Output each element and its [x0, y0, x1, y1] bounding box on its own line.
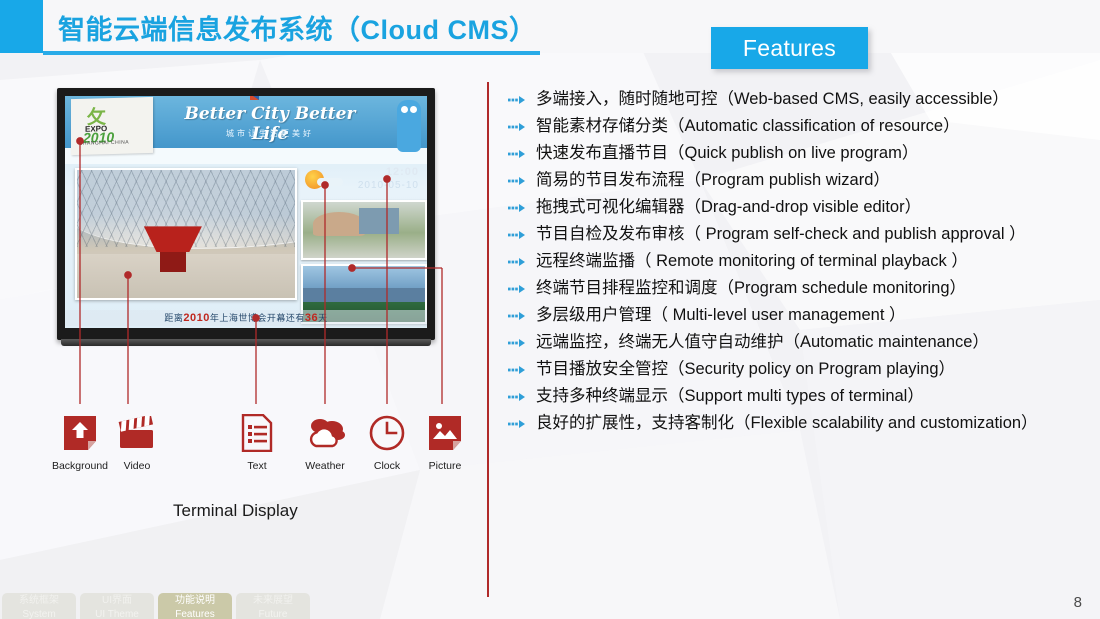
widget-clock[interactable]: Clock [357, 408, 417, 472]
kite-icon [250, 96, 259, 100]
list-item-text: 良好的扩展性，支持客制化（Flexible scalability and cu… [536, 410, 1038, 437]
background-icon [50, 408, 110, 458]
tab-ui-theme-design[interactable]: UI界面 UI Theme Design [80, 593, 154, 619]
weather-cloud-icon [317, 178, 343, 186]
list-item-text: 支持多种终端显示（Support multi types of terminal… [536, 383, 924, 410]
tab-label-cn: 功能说明 [158, 593, 232, 608]
tab-features[interactable]: 功能说明 Features [158, 593, 232, 619]
terminal-display-caption: Terminal Display [173, 501, 298, 521]
widget-text[interactable]: Text [227, 408, 287, 472]
photo-pavilion-base [160, 252, 186, 272]
widget-weather-label: Weather [295, 460, 355, 472]
bullet-arrow-icon [508, 248, 536, 271]
bullet-arrow-icon [508, 329, 536, 352]
page-title: 智能云端信息发布系统（Cloud CMS） [58, 8, 536, 47]
list-item-text: 节目自检及发布审核（ Program self-check and publis… [536, 221, 1026, 248]
tab-future-roadmap[interactable]: 未来展望 Future Roadmap [236, 593, 310, 619]
bullet-arrow-icon [508, 302, 536, 325]
video-icon [107, 408, 167, 458]
clock-icon [357, 408, 417, 458]
list-item: 拖拽式可视化编辑器（Drag-and-drop visible editor） [508, 194, 1096, 221]
list-item: 远端监控，终端无人值守自动维护（Automatic maintenance） [508, 329, 1096, 356]
list-item-text: 简易的节目发布流程（Program publish wizard） [536, 167, 890, 194]
bullet-arrow-icon [508, 221, 536, 244]
list-item: 终端节目排程监控和调度（Program schedule monitoring） [508, 275, 1096, 302]
list-item: 快速发布直播节目（Quick publish on live program） [508, 140, 1096, 167]
list-item-text: 终端节目排程监控和调度（Program schedule monitoring） [536, 275, 966, 302]
widget-background[interactable]: Background [50, 408, 110, 472]
widget-background-label: Background [50, 460, 110, 472]
list-item: 智能素材存储分类（Automatic classification of res… [508, 113, 1096, 140]
screen-main-photo [75, 168, 297, 300]
bullet-arrow-icon [508, 356, 536, 379]
expo-logo-card: ⺙ EXPO 2010 SHANGHAI CHINA [71, 97, 153, 155]
widget-clock-label: Clock [357, 460, 417, 472]
bullet-arrow-icon [508, 167, 536, 190]
features-heading-label: Features [711, 27, 868, 69]
text-icon [227, 408, 287, 458]
list-item-text: 智能素材存储分类（Automatic classification of res… [536, 113, 960, 140]
list-item-text: 节目播放安全管控（Security policy on Program play… [536, 356, 955, 383]
tab-label-en: Features [158, 608, 232, 619]
widget-text-label: Text [227, 460, 287, 472]
tab-label-en: UI Theme Design [80, 608, 154, 619]
widget-video[interactable]: Video [107, 408, 167, 472]
bullet-arrow-icon [508, 86, 536, 109]
list-item-text: 远程终端监播（ Remote monitoring of terminal pl… [536, 248, 968, 275]
list-item-text: 多层级用户管理（ Multi-level user management ） [536, 302, 906, 329]
tab-label-cn: 系统框架 [2, 593, 76, 608]
widget-weather[interactable]: Weather [295, 408, 355, 472]
list-item: 多层级用户管理（ Multi-level user management ） [508, 302, 1096, 329]
bullet-arrow-icon [508, 383, 536, 406]
haibao-mascot-icon [397, 100, 421, 152]
bullet-arrow-icon [508, 194, 536, 217]
title-underline [43, 51, 540, 55]
tab-system-architecture[interactable]: 系统框架 System Architecture [2, 593, 76, 619]
list-item: 多端接入，随时随地可控（Web-based CMS, easily access… [508, 86, 1096, 113]
bullet-arrow-icon [508, 275, 536, 298]
bullet-arrow-icon [508, 140, 536, 163]
terminal-display-image: ⺙ EXPO 2010 SHANGHAI CHINA Better City B… [57, 88, 435, 340]
screen-ticker-text: 距离2010年上海世博会开幕还有36天 [65, 310, 427, 326]
bottom-nav-tabs: 系统框架 System Architecture UI界面 UI Theme D… [2, 593, 310, 619]
section-divider [487, 82, 489, 597]
page-number: 8 [1074, 594, 1082, 611]
list-item: 节目播放安全管控（Security policy on Program play… [508, 356, 1096, 383]
photo-ground [77, 254, 295, 298]
list-item: 简易的节目发布流程（Program publish wizard） [508, 167, 1096, 194]
list-item-text: 拖拽式可视化编辑器（Drag-and-drop visible editor） [536, 194, 921, 221]
list-item-text: 多端接入，随时随地可控（Web-based CMS, easily access… [536, 86, 1009, 113]
weather-icon [295, 408, 355, 458]
list-item: 节目自检及发布审核（ Program self-check and publis… [508, 221, 1096, 248]
widget-picture-label: Picture [415, 460, 475, 472]
screen-date: 2010-05-10 [358, 180, 419, 191]
list-item: 支持多种终端显示（Support multi types of terminal… [508, 383, 1096, 410]
header-accent-block [0, 0, 43, 53]
expo-city-label: SHANGHAI CHINA [79, 140, 129, 147]
list-item: 良好的扩展性，支持客制化（Flexible scalability and cu… [508, 410, 1096, 437]
screen-clock: 12:00 [386, 166, 419, 178]
slide: 智能云端信息发布系统（Cloud CMS） Features ⺙ EXPO 20… [0, 0, 1100, 619]
list-item-text: 远端监控，终端无人值守自动维护（Automatic maintenance） [536, 329, 989, 356]
picture-icon [415, 408, 475, 458]
screen-ticker: 距离2010年上海世博会开幕还有36天 [65, 310, 427, 326]
widget-video-label: Video [107, 460, 167, 472]
tab-label-en: System Architecture [2, 608, 76, 619]
list-item-text: 快速发布直播节目（Quick publish on live program） [536, 140, 918, 167]
widget-picture[interactable]: Picture [415, 408, 475, 472]
screen-thumbnail-1 [301, 200, 427, 260]
terminal-widget-icons: Background Video [55, 408, 475, 478]
features-bullet-list: 多端接入，随时随地可控（Web-based CMS, easily access… [508, 86, 1096, 437]
bullet-arrow-icon [508, 410, 536, 433]
monitor-screen: ⺙ EXPO 2010 SHANGHAI CHINA Better City B… [65, 96, 427, 328]
screen-slogan-cn: 城市让生活更美好 [165, 128, 375, 139]
features-heading-box: Features [711, 27, 868, 69]
tab-label-en: Future Roadmap [236, 608, 310, 619]
tab-label-cn: UI界面 [80, 593, 154, 608]
list-item: 远程终端监播（ Remote monitoring of terminal pl… [508, 248, 1096, 275]
tab-label-cn: 未来展望 [236, 593, 310, 608]
bullet-arrow-icon [508, 113, 536, 136]
